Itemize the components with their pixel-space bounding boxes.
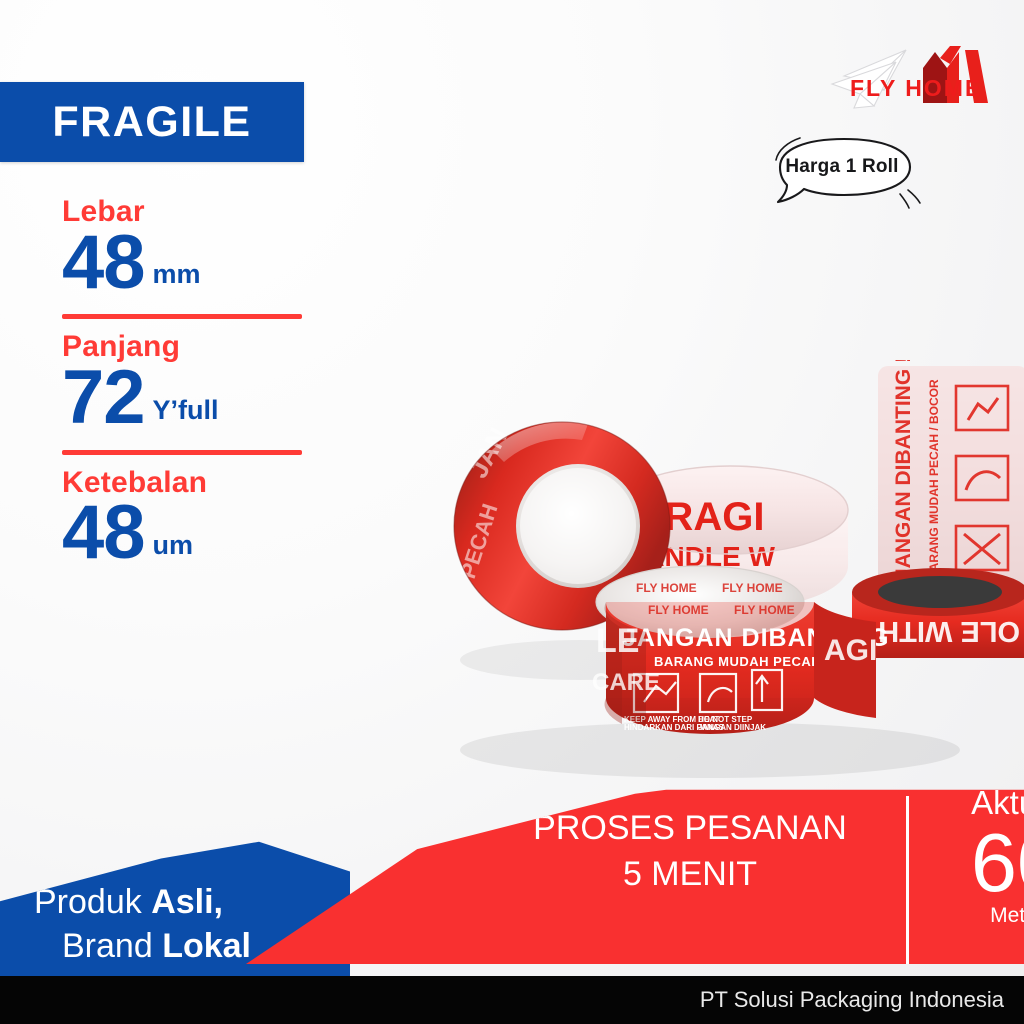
order-process-line-2: 5 MENIT [510, 852, 870, 898]
product-photo-tape-rolls: JANGAN DIBANTING !!!! BARANG MUDAH PECAH… [400, 330, 1024, 810]
price-callout-bubble: Harga 1 Roll [758, 132, 930, 214]
spec-value-lebar: 48 [62, 226, 145, 300]
svg-text:LE: LE [596, 622, 639, 660]
spec-item-lebar: Lebar 48 mm [0, 196, 320, 300]
logo-wordmark: FLY HOME [850, 75, 982, 101]
tape-print-right-lower: OLE WITH [878, 615, 1020, 647]
svg-text:AGI: AGI [824, 634, 877, 667]
company-name: PT Solusi Packaging Indonesia [700, 987, 1024, 1013]
fragile-badge-label: FRAGILE [52, 101, 251, 144]
svg-text:BARANG MUDAH PECAH: BARANG MUDAH PECAH [654, 654, 821, 669]
spec-item-ketebalan: Ketebalan 48 um [0, 467, 320, 571]
company-footer: PT Solusi Packaging Indonesia [0, 976, 1024, 1024]
svg-text:JANGAN DIBANTING !!!!: JANGAN DIBANTING !!!! [892, 335, 915, 580]
blue-banner-line-1: Produk Asli, [34, 880, 340, 924]
blue-banner-line1-bold: Asli, [151, 883, 223, 921]
red-promo-banner: PROSES PESANAN 5 MENIT Aktual 60 Meter [246, 766, 1024, 964]
red-banner-divider [906, 796, 909, 964]
blue-banner-line2-bold: Lokal [162, 927, 251, 965]
spec-value-row-lebar: 48 mm [62, 226, 320, 300]
spec-unit-ketebalan: um [153, 532, 194, 571]
actual-length-block: Aktual 60 Meter [932, 784, 1024, 929]
product-banner: FRAGILE Lebar 48 mm Panjang 72 Y’full Ke… [0, 0, 1024, 1024]
spec-unit-lebar: mm [153, 261, 201, 300]
svg-text:CARE: CARE [592, 669, 660, 696]
svg-text:FLY HOME: FLY HOME [722, 581, 783, 595]
spec-value-panjang: 72 [62, 361, 145, 435]
price-callout-label: Harga 1 Roll [758, 132, 930, 202]
blue-banner-line2-light: Brand [62, 927, 162, 965]
spec-divider-1 [62, 314, 302, 319]
order-process-text: PROSES PESANAN 5 MENIT [510, 806, 870, 898]
fragile-badge: FRAGILE [0, 82, 304, 162]
tape-roll-standing-right: JANGAN DIBANTING !!!! BARANG MUDAH PECAH… [852, 335, 1024, 658]
specification-list: Lebar 48 mm Panjang 72 Y’full Ketebalan … [0, 196, 320, 571]
actual-value: 60 [932, 821, 1024, 904]
svg-text:BARANG MUDAH PECAH / BOCOR: BARANG MUDAH PECAH / BOCOR [927, 379, 941, 580]
spec-divider-2 [62, 450, 302, 455]
svg-text:FLY HOME: FLY HOME [636, 581, 697, 595]
fly-home-logo: FLY HOME [828, 28, 1006, 120]
spec-value-row-ketebalan: 48 um [62, 496, 320, 570]
order-process-line-1: PROSES PESANAN [510, 806, 870, 852]
spec-value-ketebalan: 48 [62, 496, 145, 570]
spec-value-row-panjang: 72 Y’full [62, 361, 320, 435]
blue-banner-line1-light: Produk [34, 883, 151, 921]
spec-unit-panjang: Y’full [153, 397, 219, 436]
spec-item-panjang: Panjang 72 Y’full [0, 331, 320, 435]
